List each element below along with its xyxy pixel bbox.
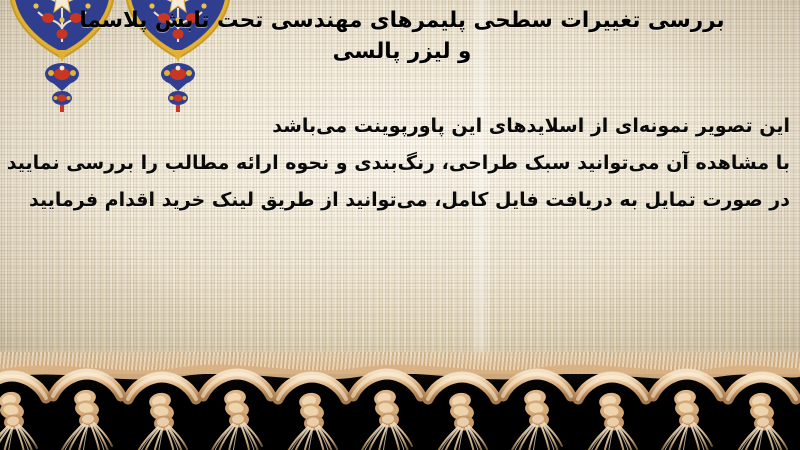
body-line-2: با مشاهده آن می‌توانید سبک طراحی، رنگ‌بن…	[8, 145, 790, 182]
presentation-slide: بررسی تغییرات سطحی پلیمرهای مهندسی تحت ت…	[0, 0, 800, 450]
title-line-1: بررسی تغییرات سطحی پلیمرهای مهندسی تحت ت…	[79, 8, 724, 33]
body-line-1: این تصویر نمونه‌ای از اسلایدهای این پاور…	[8, 108, 790, 145]
page-title: بررسی تغییرات سطحی پلیمرهای مهندسی تحت ت…	[22, 6, 782, 67]
title-line-2: و لیزر پالسی	[333, 39, 472, 64]
body-line-3: در صورت تمایل به دریافت فایل کامل، می‌تو…	[8, 182, 790, 219]
slide-text-layer: بررسی تغییرات سطحی پلیمرهای مهندسی تحت ت…	[0, 0, 800, 378]
black-border-band	[0, 374, 800, 450]
slide-body-text: این تصویر نمونه‌ای از اسلایدهای این پاور…	[8, 108, 790, 219]
